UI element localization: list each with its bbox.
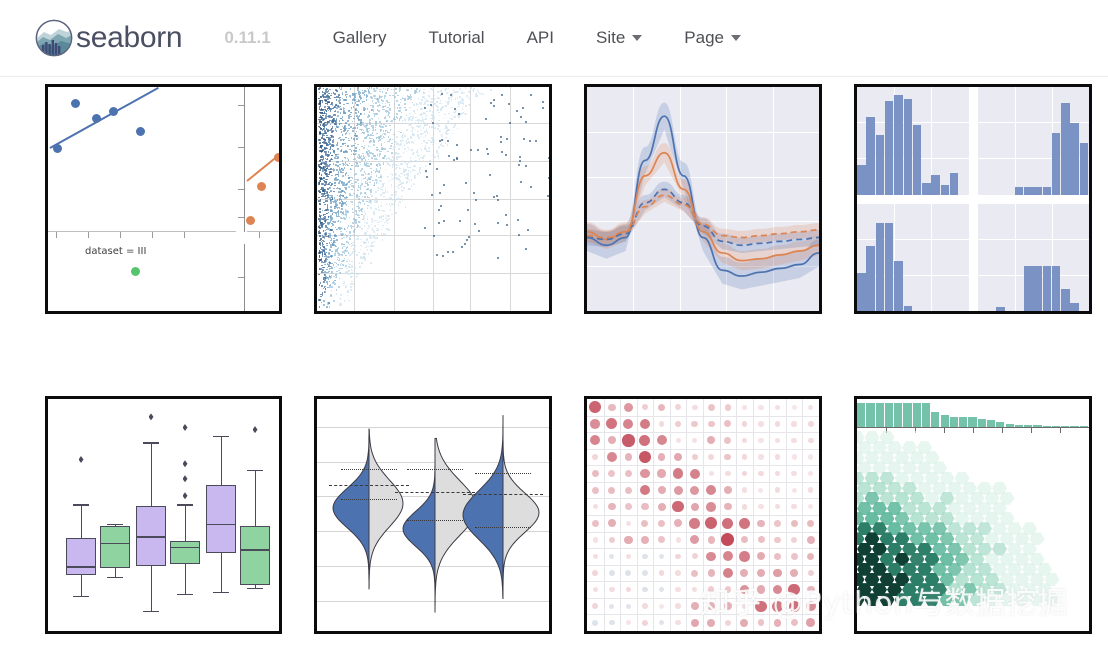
chevron-down-icon	[632, 35, 642, 41]
corr-circle	[707, 619, 715, 627]
corr-circle	[674, 519, 682, 527]
corr-circle	[657, 435, 667, 445]
hist-bar	[866, 117, 875, 195]
hist-bar	[922, 183, 931, 195]
corr-circle	[608, 404, 615, 411]
corr-circle	[723, 568, 733, 578]
gridline-v	[769, 399, 770, 631]
corr-circle	[788, 584, 800, 596]
corr-circle	[690, 535, 699, 544]
gallery-grid: dataset = III	[0, 77, 1108, 650]
corr-circle	[708, 404, 715, 411]
box-purple	[66, 538, 96, 574]
corr-circle	[775, 471, 781, 477]
corr-circle	[608, 487, 615, 494]
chevron-down-icon	[731, 35, 741, 41]
hist-subplot-top-left	[857, 87, 969, 195]
corr-circle	[640, 419, 651, 430]
box-green	[170, 541, 200, 564]
corr-circle	[676, 438, 681, 443]
corr-circle	[724, 602, 732, 610]
corr-circle	[758, 488, 763, 493]
hist-bar	[1015, 187, 1024, 195]
quartile-line-q3	[475, 527, 531, 528]
x-tick	[259, 232, 260, 238]
corr-circle	[609, 620, 615, 626]
median-line	[170, 547, 200, 548]
corr-circle	[807, 586, 815, 594]
y-tick	[238, 277, 244, 278]
corr-circle	[808, 504, 813, 509]
outlier-marker	[253, 426, 258, 433]
scatterplot-dense-chart	[317, 87, 549, 311]
hist-bar	[996, 307, 1005, 311]
outlier-marker	[183, 475, 188, 482]
corr-circle	[758, 536, 765, 543]
whisker-lower	[185, 564, 186, 594]
corr-circle	[725, 586, 732, 593]
corr-circle	[608, 503, 616, 511]
hist-bar	[950, 173, 959, 195]
corr-circle	[721, 533, 734, 546]
outlier-marker	[149, 413, 154, 420]
grouped-boxplot-chart	[48, 399, 279, 631]
hist-bar	[1070, 303, 1079, 311]
corr-circle	[742, 405, 747, 410]
median-line	[136, 536, 166, 537]
marginal-bar	[931, 412, 939, 427]
corr-circle	[773, 569, 782, 578]
quartile-line-q1	[407, 469, 463, 470]
nav-item-label: Site	[596, 28, 625, 48]
corr-circle	[607, 452, 617, 462]
whisker-upper	[81, 504, 82, 538]
box-green	[240, 526, 270, 586]
corr-circle	[808, 471, 813, 476]
corr-circle	[659, 570, 665, 576]
gridline-h	[587, 548, 819, 549]
gridline-v	[736, 399, 737, 631]
data-point-blue	[92, 114, 101, 123]
median-line	[100, 543, 130, 544]
corr-circle	[806, 601, 816, 611]
corr-circle	[791, 421, 797, 427]
corr-circle	[742, 454, 748, 460]
corr-circle	[691, 619, 699, 627]
corr-circle	[658, 503, 666, 511]
y-tick	[238, 105, 244, 106]
gridline-v	[470, 87, 471, 311]
seaborn-gallery-page: seaborn 0.11.1 Gallery Tutorial API Site…	[0, 0, 1108, 650]
gridline-v	[510, 87, 511, 311]
marginal-bar	[857, 403, 865, 427]
whisker-lower	[115, 568, 116, 577]
corr-circle	[757, 569, 765, 577]
marginal-histogram	[857, 399, 1089, 427]
hist-bar	[931, 175, 940, 195]
corr-circle	[791, 471, 797, 477]
whisker-cap-lower	[143, 611, 159, 612]
y-tick	[238, 217, 244, 218]
brand-link[interactable]: seaborn	[34, 18, 182, 58]
corr-circle	[675, 554, 681, 560]
corr-circle	[659, 421, 665, 427]
violin-half-blue	[463, 415, 503, 598]
corr-circle	[609, 570, 615, 576]
nav-item-site[interactable]: Site	[596, 28, 642, 48]
corr-circle	[758, 471, 764, 477]
outlier-marker	[79, 456, 84, 463]
corr-circle	[640, 469, 649, 478]
corr-circle	[642, 554, 648, 560]
corr-circle	[592, 620, 598, 626]
corr-circle	[740, 569, 748, 577]
hist-bar	[876, 135, 885, 195]
facet-axis-h2	[247, 231, 279, 232]
seaborn-logo-icon	[34, 18, 74, 58]
corr-circle	[755, 601, 766, 612]
whisker-cap-upper	[247, 470, 263, 471]
corr-circle	[757, 552, 765, 560]
nav-item-label: API	[527, 28, 554, 48]
corr-circle	[739, 551, 750, 562]
corr-circle	[642, 603, 648, 609]
nav-item-api[interactable]: API	[527, 28, 554, 48]
corr-circle	[808, 405, 813, 410]
hist-bar	[1061, 103, 1070, 195]
corr-circle	[708, 421, 715, 428]
corr-circle	[641, 536, 649, 544]
corr-circle	[592, 487, 599, 494]
corr-circle	[642, 404, 648, 410]
quartile-line-q3	[407, 520, 463, 521]
corr-circle	[659, 604, 664, 609]
nav-item-page[interactable]: Page	[684, 28, 741, 48]
quartile-line-q1	[475, 473, 531, 474]
hist-bar	[885, 223, 894, 311]
corr-circle	[792, 488, 797, 493]
hist-bar	[857, 273, 866, 311]
corr-circle	[641, 520, 648, 527]
corr-circle	[808, 487, 814, 493]
outlier-marker	[183, 424, 188, 431]
whisker-cap-upper	[107, 524, 123, 525]
corr-circle	[708, 454, 714, 460]
corr-circle	[706, 552, 716, 562]
marginal-bar	[987, 420, 995, 427]
corr-circle	[722, 518, 733, 529]
violin-svg	[317, 399, 549, 631]
corr-circle	[706, 485, 716, 495]
whisker-cap-upper	[177, 504, 193, 505]
corr-circle	[742, 487, 748, 493]
corr-circle	[592, 603, 598, 609]
brand-name: seaborn	[76, 21, 182, 55]
corr-circle	[807, 520, 814, 527]
corr-circle	[725, 620, 731, 626]
corr-circle	[608, 470, 615, 477]
hexbin-jointplot-chart	[857, 399, 1089, 631]
corr-circle	[626, 604, 631, 609]
corr-circle	[691, 503, 700, 512]
corr-circle	[758, 405, 763, 410]
hist-bar	[876, 223, 885, 311]
corr-circle	[625, 470, 632, 477]
corr-circle	[625, 453, 633, 461]
hist-bar	[866, 246, 875, 311]
corr-circle	[808, 454, 813, 459]
gallery-thumb-pairgrid-histograms[interactable]	[854, 84, 1092, 314]
hist-bar	[1043, 187, 1052, 195]
gallery-thumb-correlation-matrix[interactable]	[584, 396, 822, 634]
corr-circle	[772, 601, 783, 612]
hist-bar	[1024, 266, 1033, 311]
hist-bar	[1061, 289, 1070, 311]
hist-subplot-bottom-right	[978, 204, 1090, 312]
nav-item-label: Page	[684, 28, 724, 48]
gridline-v	[1015, 204, 1016, 312]
hist-bar	[904, 306, 913, 311]
marginal-bar	[941, 415, 949, 427]
data-point-green	[131, 267, 140, 276]
corr-circle	[775, 454, 781, 460]
corr-circle	[609, 554, 614, 559]
corr-circle	[609, 537, 615, 543]
marginal-bar	[885, 403, 893, 427]
corr-circle	[807, 553, 815, 561]
corr-circle	[689, 518, 700, 529]
corr-circle	[724, 420, 731, 427]
marginal-bar	[978, 419, 986, 427]
corr-circle	[724, 503, 732, 511]
gridline-h	[587, 581, 819, 582]
regression-line-blue	[50, 87, 159, 149]
corr-circle	[723, 551, 733, 561]
correlation-matrix-chart	[587, 399, 819, 631]
site-navbar: seaborn 0.11.1 Gallery Tutorial API Site…	[0, 0, 1108, 77]
corr-circle	[624, 536, 632, 544]
whisker-cap-upper	[143, 442, 159, 443]
corr-circle	[657, 469, 665, 477]
median-line	[206, 524, 236, 525]
quartile-line-med	[329, 485, 409, 486]
whisker-upper	[151, 442, 152, 506]
whisker-cap-lower	[177, 594, 193, 595]
hist-bar	[904, 99, 913, 195]
corr-circle	[642, 620, 648, 626]
corr-circle	[774, 537, 781, 544]
corr-circle	[742, 471, 748, 477]
corr-circle	[806, 618, 815, 627]
corr-circle	[791, 619, 798, 626]
corr-circle	[658, 486, 666, 494]
corr-circle	[691, 570, 698, 577]
corr-circle	[758, 421, 764, 427]
corr-circle	[639, 435, 650, 446]
whisker-upper	[221, 436, 222, 485]
corr-circle	[658, 404, 666, 412]
corr-circle	[608, 519, 616, 527]
gallery-thumb-lmplot-anscombe[interactable]: dataset = III	[45, 84, 282, 314]
corr-circle	[707, 602, 715, 610]
marginal-bar	[876, 403, 884, 427]
x-tick	[944, 428, 945, 433]
corr-circle	[658, 536, 665, 543]
corr-circle	[709, 471, 714, 476]
box-green	[100, 526, 130, 569]
corr-circle	[641, 503, 648, 510]
whisker-upper	[185, 504, 186, 540]
corr-circle	[742, 438, 748, 444]
nav-item-tutorial[interactable]: Tutorial	[429, 28, 485, 48]
whisker-lower	[151, 566, 152, 611]
corr-circle	[593, 504, 599, 510]
gridline-h	[587, 565, 819, 566]
corr-circle	[791, 438, 796, 443]
gridline-h	[587, 532, 819, 533]
hist-bar	[1080, 143, 1089, 195]
corr-circle	[741, 536, 748, 543]
corr-circle	[675, 570, 681, 576]
corr-circle	[675, 603, 681, 609]
corr-circle	[659, 620, 664, 625]
corr-circle	[758, 438, 763, 443]
corr-circle	[592, 570, 598, 576]
corr-circle	[742, 504, 748, 510]
whisker-cap-lower	[213, 592, 229, 593]
corr-circle	[808, 421, 814, 427]
marginal-bar	[894, 403, 902, 427]
corr-circle	[807, 536, 815, 544]
corr-circle	[623, 419, 633, 429]
corr-circle	[589, 401, 601, 413]
corr-circle	[791, 520, 798, 527]
whisker-cap-lower	[73, 596, 89, 597]
corr-circle	[592, 454, 598, 460]
gallery-thumb-split-violinplot[interactable]	[314, 396, 552, 634]
corr-circle	[791, 537, 797, 543]
corr-circle	[692, 553, 698, 559]
marginal-bar	[913, 403, 921, 427]
gallery-thumb-grouped-boxplot[interactable]	[45, 396, 282, 634]
corr-circle	[590, 435, 600, 445]
corr-circle	[639, 451, 652, 464]
corr-circle	[674, 453, 682, 461]
corr-circle	[724, 437, 731, 444]
corr-circle	[675, 587, 681, 593]
split-violinplot-chart	[317, 399, 549, 631]
whisker-cap-upper	[213, 436, 229, 437]
hist-bar	[1024, 187, 1033, 195]
corr-circle	[775, 438, 780, 443]
corr-circle	[691, 602, 699, 610]
data-point-orange	[246, 216, 255, 225]
corr-circle	[791, 504, 797, 510]
corr-circle	[808, 570, 814, 576]
facet-label: dataset = III	[85, 246, 146, 257]
x-tick	[88, 232, 89, 238]
corr-circle	[775, 487, 781, 493]
corr-circle	[692, 438, 697, 443]
gallery-thumb-scatterplot-dense[interactable]	[314, 84, 552, 314]
gridline-v	[786, 399, 787, 631]
corr-circle	[692, 587, 698, 593]
corr-circle	[692, 405, 698, 411]
whisker-lower	[81, 575, 82, 596]
corr-circle	[705, 517, 717, 529]
data-point-blue	[109, 107, 118, 116]
corr-circle	[592, 470, 599, 477]
corr-circle	[593, 554, 599, 560]
corr-circle	[622, 434, 634, 446]
hist-subplot-top-right	[978, 87, 1090, 195]
corr-circle	[673, 468, 684, 479]
corr-circle	[692, 454, 698, 460]
corr-circle	[690, 486, 699, 495]
x-tick	[1060, 428, 1061, 433]
y-tick	[238, 147, 244, 148]
corr-circle	[640, 485, 651, 496]
corr-circle	[758, 619, 765, 626]
gridline-v	[1015, 87, 1016, 195]
hist-bar	[941, 185, 950, 195]
corr-circle	[672, 501, 684, 513]
nav-item-label: Gallery	[333, 28, 387, 48]
nav-links: Gallery Tutorial API Site Page	[333, 28, 783, 48]
corr-circle	[624, 403, 633, 412]
nav-item-gallery[interactable]: Gallery	[333, 28, 387, 48]
corr-circle	[742, 603, 748, 609]
marginal-bar	[903, 403, 911, 427]
gridline-v	[720, 399, 721, 631]
corr-circle	[658, 520, 665, 527]
hist-bar	[885, 101, 894, 195]
marginal-bar	[968, 417, 976, 427]
quartile-line-med	[395, 492, 475, 493]
corr-circle	[659, 587, 665, 593]
facet-axis-h	[48, 231, 236, 232]
corr-circle	[593, 537, 598, 542]
corr-circle	[674, 486, 683, 495]
gallery-thumb-lineplot-confidence[interactable]	[584, 84, 822, 314]
hist-bar	[913, 125, 922, 195]
corr-circle	[708, 569, 716, 577]
corr-circle	[625, 487, 632, 494]
corr-circle	[775, 421, 781, 427]
violin-half-grey	[503, 415, 539, 598]
corr-circle	[707, 436, 715, 444]
corr-circle	[625, 570, 631, 576]
corr-circle	[625, 503, 632, 510]
marginal-bar	[959, 417, 967, 427]
corr-circle	[724, 454, 731, 461]
hist-bar	[1052, 266, 1061, 311]
hist-subplot-bottom-left	[857, 204, 969, 312]
corr-circle	[626, 620, 631, 625]
whisker-cap-lower	[107, 577, 123, 578]
corr-circle	[758, 454, 763, 459]
x-tick	[1002, 428, 1003, 433]
corr-circle	[706, 502, 716, 512]
corr-circle	[757, 520, 765, 528]
hist-bar	[1052, 133, 1061, 195]
whisker-cap-upper	[73, 504, 89, 505]
gallery-thumb-hexbin-jointplot[interactable]	[854, 396, 1092, 634]
gridline-h	[317, 273, 549, 274]
x-tick	[973, 428, 974, 433]
quartile-line-q1	[341, 469, 397, 470]
lmplot-anscombe-chart: dataset = III	[48, 87, 279, 311]
